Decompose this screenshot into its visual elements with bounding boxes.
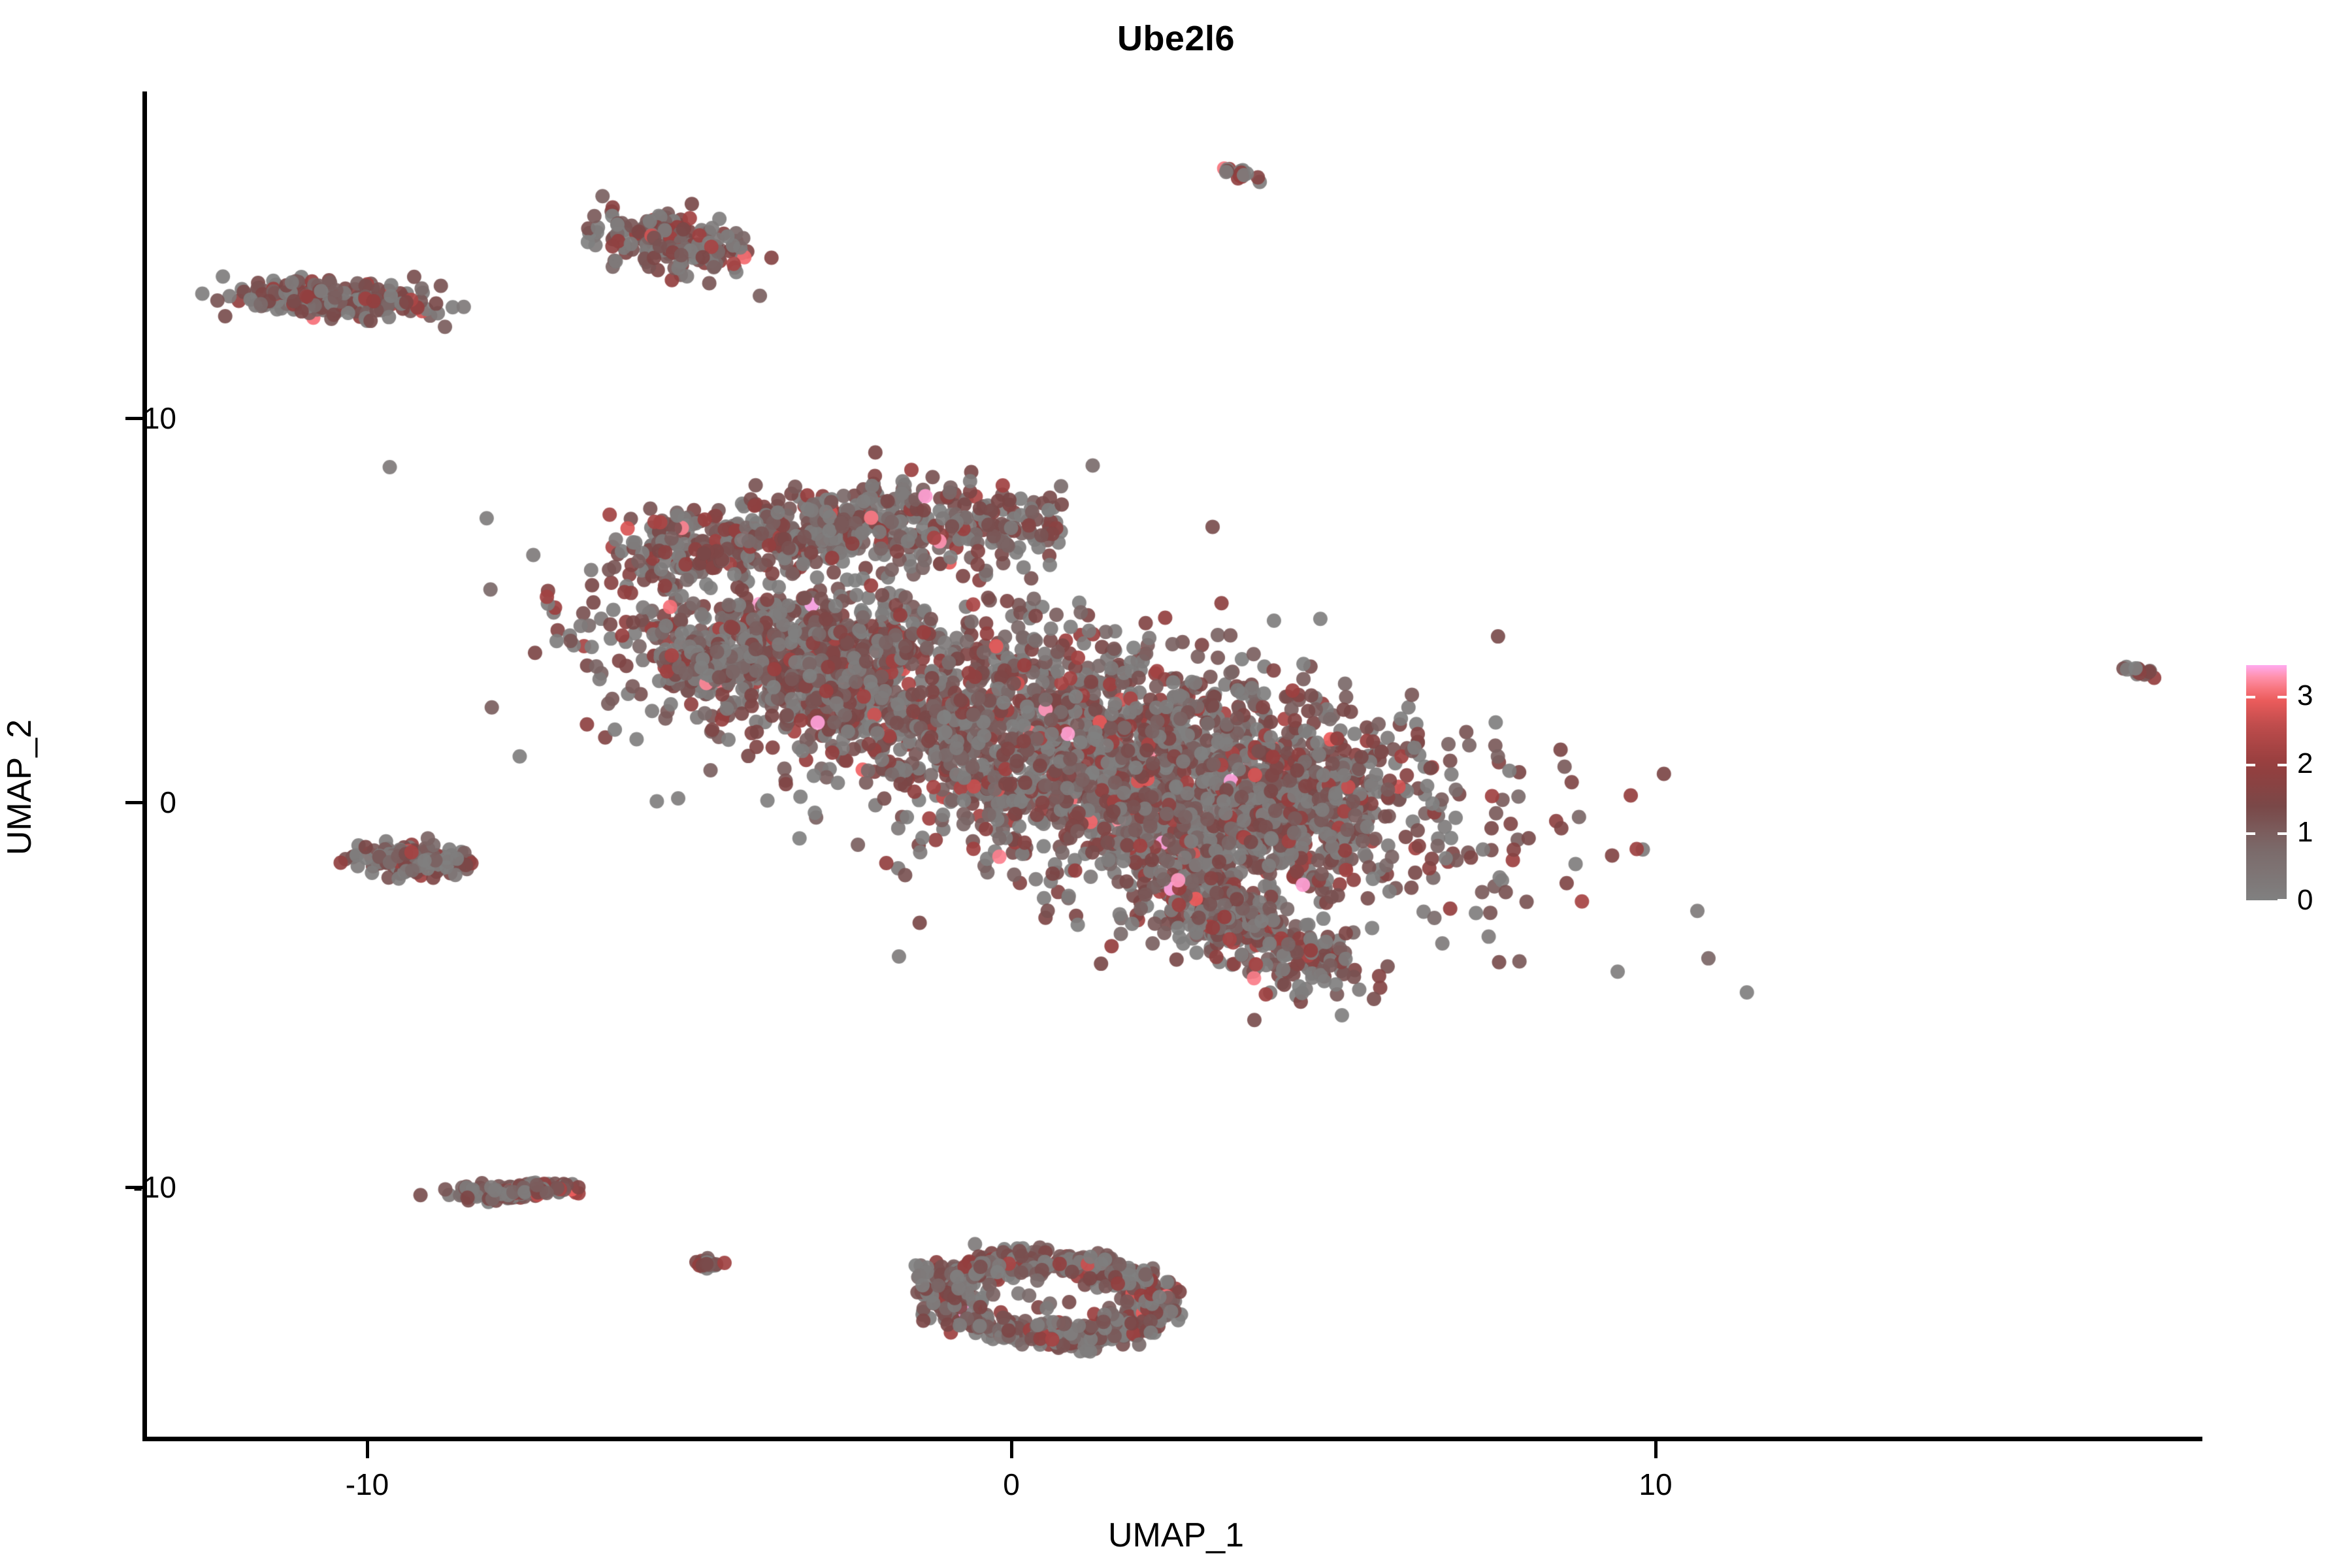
colorbar-tick-label: 2: [2297, 747, 2313, 780]
colorbar-tick-mark: [2278, 832, 2287, 835]
x-tick-mark: [1654, 1441, 1658, 1458]
x-axis-line: [142, 1437, 2202, 1441]
x-tick-label: 0: [1003, 1467, 1020, 1502]
y-tick-label: -10: [133, 1169, 176, 1205]
colorbar-tick-mark: [2246, 832, 2255, 835]
page-title: Ube2l6: [0, 18, 2352, 59]
y-axis-title: UMAP_2: [0, 624, 39, 951]
y-tick-label: 0: [159, 785, 176, 820]
colorbar-tick-label: 1: [2297, 816, 2313, 849]
colorbar-tick-mark: [2278, 899, 2287, 902]
x-tick-mark: [366, 1441, 369, 1458]
colorbar-tick-mark: [2246, 764, 2255, 766]
colorbar-tick-mark: [2278, 764, 2287, 766]
colorbar-tick-mark: [2278, 696, 2287, 698]
scatter-canvas[interactable]: [144, 91, 2202, 1439]
y-tick-mark: [125, 417, 142, 420]
colorbar-tick-mark: [2246, 696, 2255, 698]
x-tick-label: 10: [1639, 1467, 1672, 1502]
umap-feature-plot: Ube2l6 -10010 -10010 UMAP_1 UMAP_2 0123: [0, 0, 2352, 1568]
colorbar-gradient: [2246, 665, 2287, 900]
x-tick-label: -10: [346, 1467, 389, 1502]
colorbar-tick-label: 3: [2297, 679, 2313, 712]
x-tick-mark: [1010, 1441, 1013, 1458]
y-tick-mark: [125, 801, 142, 804]
x-axis-title: UMAP_1: [0, 1516, 2352, 1555]
colorbar-legend[interactable]: 0123: [2246, 665, 2344, 900]
y-axis-line: [142, 91, 147, 1441]
y-tick-label: 10: [143, 400, 176, 436]
colorbar-tick-label: 0: [2297, 884, 2313, 917]
